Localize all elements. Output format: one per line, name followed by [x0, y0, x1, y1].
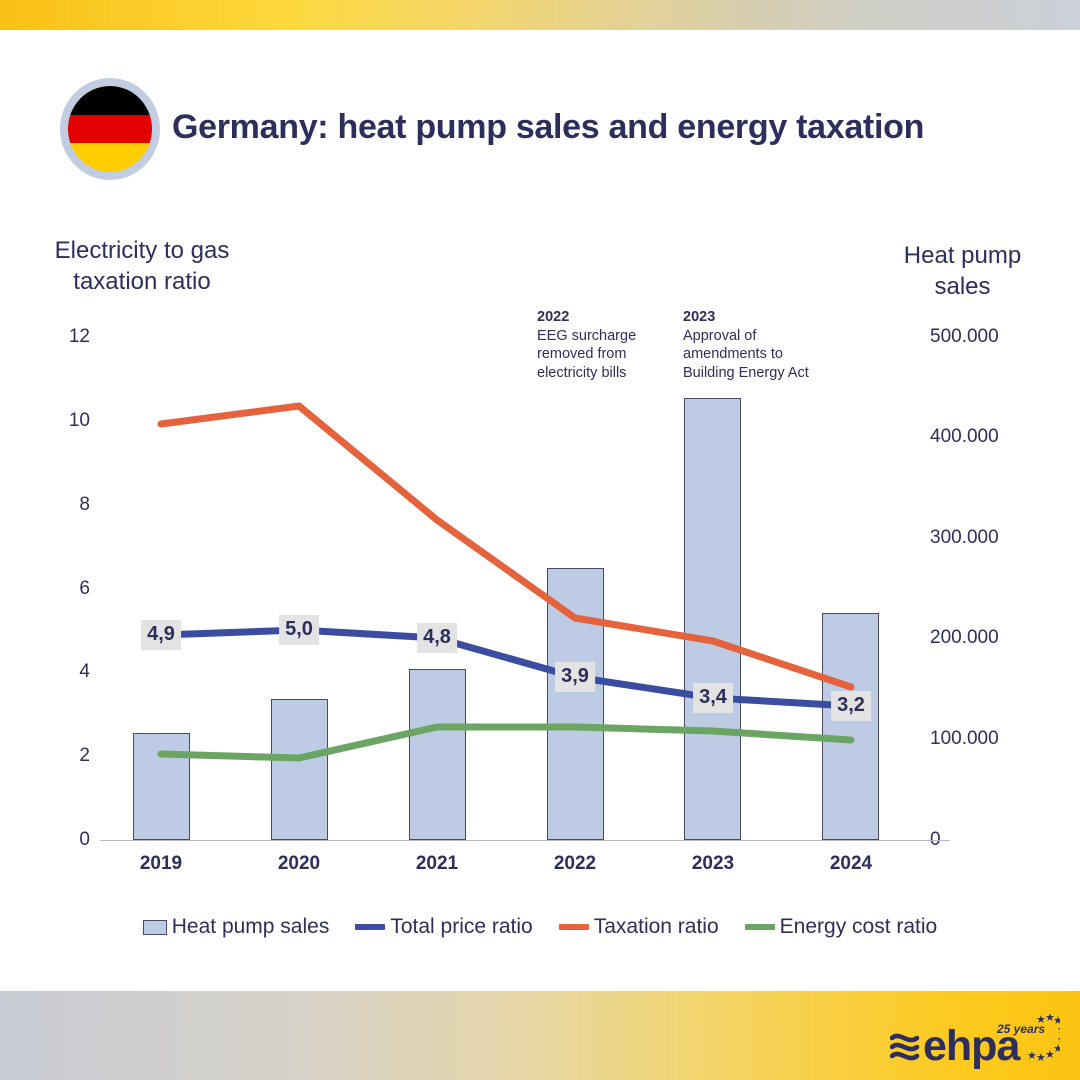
- legend-label: Heat pump sales: [172, 915, 330, 939]
- legend-item-heat-pump-sales[interactable]: Heat pump sales: [143, 915, 330, 939]
- legend-item-energy-cost-ratio[interactable]: Energy cost ratio: [745, 915, 938, 939]
- legend-label: Total price ratio: [390, 915, 532, 939]
- bar-2019[interactable]: [133, 733, 190, 840]
- y-tick: 6: [79, 578, 90, 600]
- y2-tick: 300.000: [930, 527, 999, 549]
- legend-label: Energy cost ratio: [780, 915, 938, 939]
- x-label-2023: 2023: [692, 853, 734, 875]
- legend-swatch-line-icon: [355, 924, 385, 930]
- bar-2021[interactable]: [409, 669, 466, 840]
- y-tick: 4: [79, 661, 90, 683]
- bar-2024[interactable]: [822, 613, 879, 840]
- bar-2023[interactable]: [684, 398, 741, 840]
- legend-label: Taxation ratio: [594, 915, 719, 939]
- chart-legend: Heat pump sales Total price ratio Taxati…: [0, 915, 1080, 939]
- annotation-2022: 2022 EEG surcharge removed from electric…: [537, 308, 687, 382]
- y-tick: 12: [69, 326, 90, 348]
- annotation-2022-line3: electricity bills: [537, 365, 626, 381]
- energy-cost-ratio-line: [161, 727, 851, 758]
- annotation-2022-line1: EEG surcharge: [537, 328, 636, 344]
- y-tick: 10: [69, 410, 90, 432]
- legend-swatch-line-icon: [745, 924, 775, 930]
- bar-2022[interactable]: [547, 568, 604, 840]
- data-label-2021: 4,8: [417, 623, 457, 653]
- data-label-2024: 3,2: [831, 691, 871, 721]
- y2-tick: 200.000: [930, 627, 999, 649]
- ehpa-waves-icon: [892, 1036, 917, 1058]
- taxation-ratio-line: [161, 406, 851, 687]
- y2-tick: 500.000: [930, 326, 999, 348]
- x-label-2021: 2021: [416, 853, 458, 875]
- legend-swatch-box-icon: [143, 920, 167, 935]
- annotation-2023-line3: Building Energy Act: [683, 365, 809, 381]
- top-gradient-band: [0, 0, 1080, 30]
- y-tick: 8: [79, 494, 90, 516]
- data-label-2020: 5,0: [279, 615, 319, 645]
- annotation-2023-line1: Approval of: [683, 328, 756, 344]
- y-tick: 0: [79, 829, 90, 851]
- x-label-2024: 2024: [830, 853, 872, 875]
- x-label-2020: 2020: [278, 853, 320, 875]
- y2-tick: 400.000: [930, 426, 999, 448]
- x-axis-line: [100, 840, 950, 841]
- annotation-2023: 2023 Approval of amendments to Building …: [683, 308, 848, 382]
- x-label-2022: 2022: [554, 853, 596, 875]
- x-label-2019: 2019: [140, 853, 182, 875]
- data-label-2022: 3,9: [555, 662, 595, 692]
- legend-swatch-line-icon: [559, 924, 589, 930]
- legend-item-total-price-ratio[interactable]: Total price ratio: [355, 915, 532, 939]
- annotation-2022-year: 2022: [537, 308, 687, 327]
- bar-2020[interactable]: [271, 699, 328, 840]
- y2-tick: 100.000: [930, 728, 999, 750]
- annotation-2023-line2: amendments to: [683, 346, 783, 362]
- total-price-ratio-line: [161, 630, 851, 706]
- page-title: Germany: heat pump sales and energy taxa…: [172, 108, 924, 147]
- annotation-2022-line2: removed from: [537, 346, 626, 362]
- data-label-2023: 3,4: [693, 683, 733, 713]
- legend-item-taxation-ratio[interactable]: Taxation ratio: [559, 915, 719, 939]
- data-label-2019: 4,9: [141, 620, 181, 650]
- annotation-2023-year: 2023: [683, 308, 848, 327]
- y-tick: 2: [79, 745, 90, 767]
